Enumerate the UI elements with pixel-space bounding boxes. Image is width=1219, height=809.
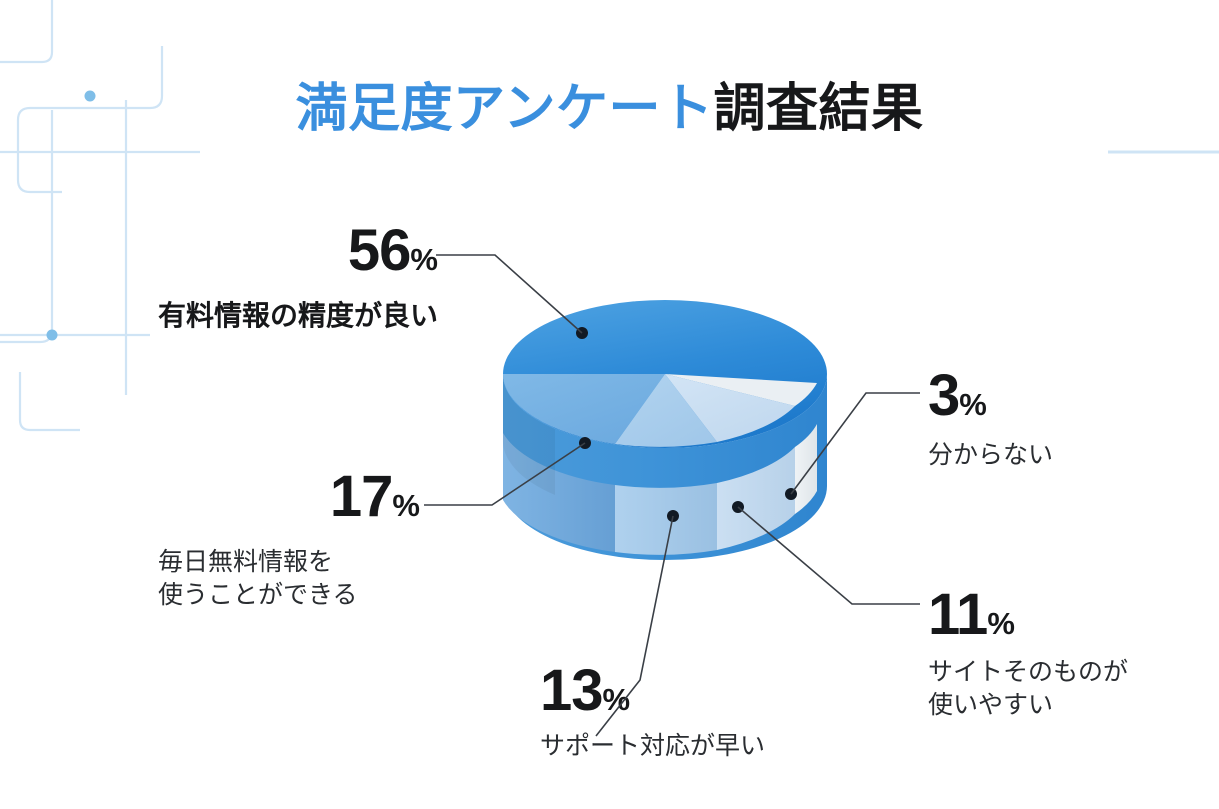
callout-13-percent: 13%	[540, 662, 840, 720]
percent-sign-icon: %	[959, 387, 987, 422]
callout-3: 3% 分からない	[928, 367, 1198, 472]
percent-sign-icon: %	[603, 682, 631, 717]
leader-dot-17	[579, 437, 591, 449]
callout-56-value: 56	[348, 218, 411, 283]
callout-3-percent: 3%	[928, 367, 1198, 425]
callout-3-value: 3	[928, 363, 959, 428]
pie-chart-3d	[495, 248, 835, 620]
callout-17-percent: 17%	[150, 468, 420, 526]
page-title: 満足度アンケート調査結果	[0, 66, 1219, 141]
leader-dot-11	[732, 501, 744, 513]
percent-sign-icon: %	[392, 488, 420, 523]
callout-13-label: サポート対応が早い	[540, 730, 840, 763]
leader-dot-3	[785, 488, 797, 500]
title-rest: 調査結果	[713, 80, 923, 138]
callout-13-value: 13	[540, 658, 603, 723]
callout-11: 11% サイトそのものが 使いやすい	[928, 586, 1198, 722]
callout-11-value: 11	[928, 582, 987, 647]
slide-canvas: 満足度アンケート調査結果	[0, 0, 1219, 809]
callout-13: 13% サポート対応が早い	[540, 662, 840, 763]
title-highlight: 満足度アンケート	[296, 80, 714, 138]
leader-dot-13	[667, 510, 679, 522]
callout-17-value: 17	[330, 464, 393, 529]
callout-56-label: 有料情報の精度が良い	[58, 298, 438, 335]
decor-path-a	[0, 0, 52, 62]
decor-path-d	[0, 110, 52, 342]
callout-56: 56% 有料情報の精度が良い	[58, 222, 438, 335]
callout-3-label: 分からない	[928, 439, 1198, 472]
callout-11-label: サイトそのものが 使いやすい	[928, 656, 1198, 722]
callout-56-percent: 56%	[58, 222, 438, 280]
leader-dot-56	[576, 327, 588, 339]
callout-17-label: 毎日無料情報を 使うことができる	[150, 546, 420, 612]
percent-sign-icon: %	[410, 242, 438, 277]
slice-wall-13	[615, 483, 717, 555]
decor-path-g	[20, 372, 80, 430]
callout-17: 17% 毎日無料情報を 使うことができる	[150, 468, 420, 612]
decor-dot-mid	[47, 330, 58, 341]
callout-11-percent: 11%	[928, 586, 1198, 644]
percent-sign-icon: %	[987, 606, 1015, 641]
